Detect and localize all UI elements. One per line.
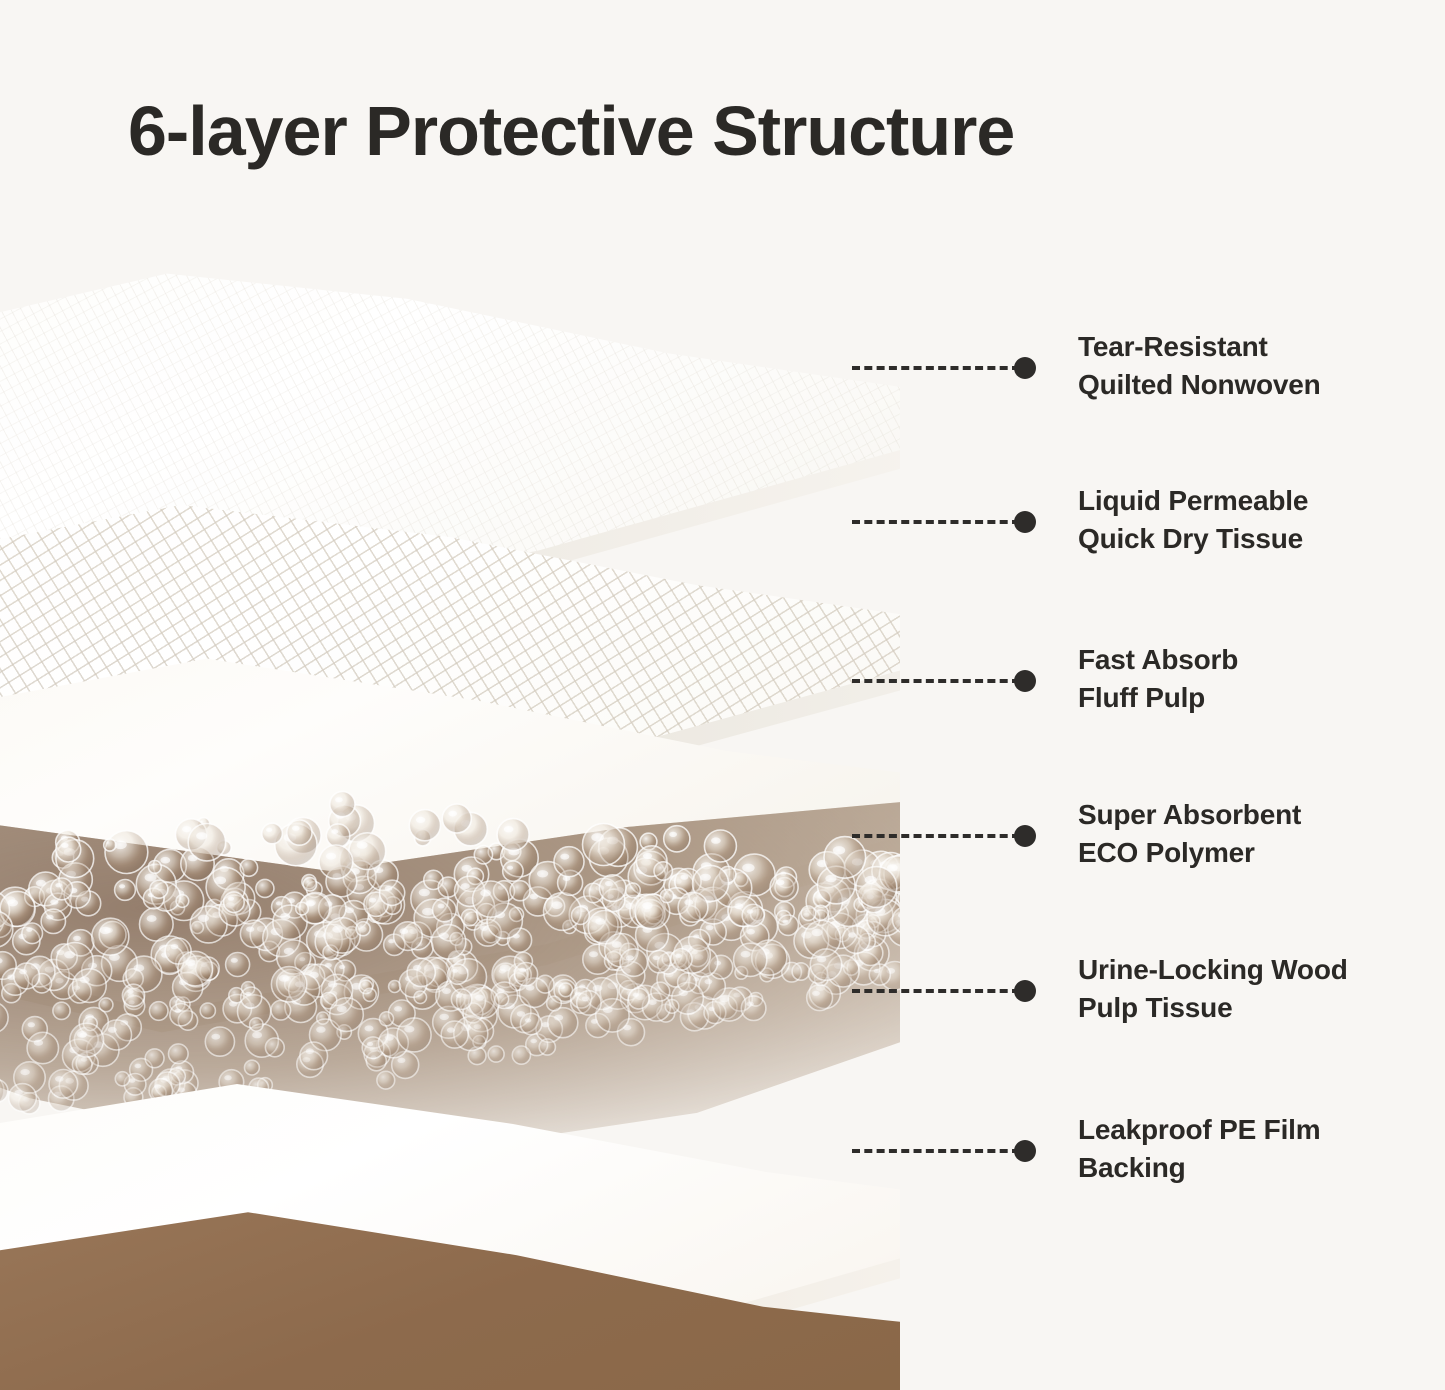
- callout-label-line2: ECO Polymer: [1078, 834, 1408, 872]
- callout-label: Leakproof PE FilmBacking: [1078, 1111, 1408, 1187]
- callout-group: Tear-ResistantQuilted NonwovenLiquid Per…: [0, 0, 1445, 1390]
- callout-label: Tear-ResistantQuilted Nonwoven: [1078, 328, 1408, 404]
- callout-label-line2: Backing: [1078, 1149, 1408, 1187]
- callout-label: Super AbsorbentECO Polymer: [1078, 796, 1408, 872]
- callout-label: Liquid PermeableQuick Dry Tissue: [1078, 482, 1408, 558]
- dashed-leader-line: [852, 1149, 1020, 1153]
- callout-label-line1: Super Absorbent: [1078, 796, 1408, 834]
- dashed-leader-line: [852, 834, 1020, 838]
- callout-label-line1: Liquid Permeable: [1078, 482, 1408, 520]
- callout-label-line1: Fast Absorb: [1078, 641, 1408, 679]
- callout-label-line1: Urine-Locking Wood: [1078, 951, 1408, 989]
- leader-dot-icon: [1014, 825, 1036, 847]
- callout-label-line2: Quilted Nonwoven: [1078, 366, 1408, 404]
- callout-label: Urine-Locking WoodPulp Tissue: [1078, 951, 1408, 1027]
- leader-dot-icon: [1014, 1140, 1036, 1162]
- leader-dot-icon: [1014, 511, 1036, 533]
- callout-label-line2: Quick Dry Tissue: [1078, 520, 1408, 558]
- dashed-leader-line: [852, 989, 1020, 993]
- leader-dot-icon: [1014, 670, 1036, 692]
- callout-label-line2: Fluff Pulp: [1078, 679, 1408, 717]
- callout-label-line1: Leakproof PE Film: [1078, 1111, 1408, 1149]
- dashed-leader-line: [852, 520, 1020, 524]
- leader-dot-icon: [1014, 357, 1036, 379]
- callout-label-line1: Tear-Resistant: [1078, 328, 1408, 366]
- infographic-canvas: 6-layer Protective Structure: [0, 0, 1445, 1390]
- callout-label-line2: Pulp Tissue: [1078, 989, 1408, 1027]
- dashed-leader-line: [852, 679, 1020, 683]
- leader-dot-icon: [1014, 980, 1036, 1002]
- callout-label: Fast AbsorbFluff Pulp: [1078, 641, 1408, 717]
- dashed-leader-line: [852, 366, 1020, 370]
